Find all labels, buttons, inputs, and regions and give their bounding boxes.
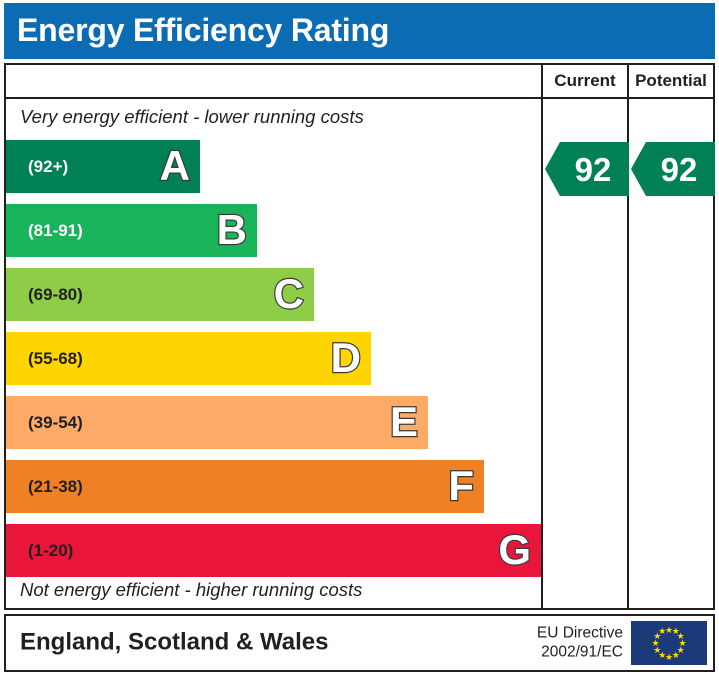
caption-efficient: Very energy efficient - lower running co…: [20, 106, 364, 128]
band-e: (39-54) E: [6, 396, 428, 449]
band-a: (92+) A: [6, 140, 200, 193]
potential-rating-value: 92: [649, 153, 698, 186]
band-e-letter: E: [390, 401, 418, 443]
footer-region-label: England, Scotland & Wales: [20, 628, 328, 656]
band-c: (69-80) C: [6, 268, 314, 321]
band-g: (1-20) G: [6, 524, 541, 577]
potential-rating-arrow: 92: [631, 142, 715, 196]
page-title: Energy Efficiency Rating: [17, 12, 389, 49]
band-a-range: (92+): [28, 157, 68, 177]
footer-directive-line2: 2002/91/EC: [537, 643, 623, 662]
band-f: (21-38) F: [6, 460, 484, 513]
energy-efficiency-rating-chart: Energy Efficiency Rating Current Potenti…: [0, 0, 719, 675]
column-header-row: Current Potential: [6, 65, 713, 99]
column-header-potential: Potential: [627, 65, 713, 97]
band-b-letter: B: [217, 209, 247, 251]
band-f-range: (21-38): [28, 477, 83, 497]
band-g-range: (1-20): [28, 541, 73, 561]
band-g-letter: G: [498, 529, 531, 571]
band-c-letter: C: [274, 273, 304, 315]
band-d-range: (55-68): [28, 349, 83, 369]
eu-flag-icon: [631, 621, 707, 665]
footer-directive-line1: EU Directive: [537, 624, 623, 643]
band-c-range: (69-80): [28, 285, 83, 305]
caption-inefficient: Not energy efficient - higher running co…: [20, 579, 362, 601]
footer-directive: EU Directive 2002/91/EC: [537, 624, 623, 663]
chart-header-banner: Energy Efficiency Rating: [4, 3, 715, 59]
band-f-letter: F: [448, 465, 474, 507]
band-b: (81-91) B: [6, 204, 257, 257]
band-b-range: (81-91): [28, 221, 83, 241]
column-divider-current: [541, 99, 543, 608]
column-header-current: Current: [541, 65, 627, 97]
band-d: (55-68) D: [6, 332, 371, 385]
current-rating-arrow: 92: [545, 142, 629, 196]
band-d-letter: D: [331, 337, 361, 379]
chart-footer: England, Scotland & Wales EU Directive 2…: [4, 614, 715, 672]
bands-area: Very energy efficient - lower running co…: [6, 99, 541, 608]
current-rating-value: 92: [563, 153, 612, 186]
band-a-letter: A: [160, 145, 190, 187]
band-e-range: (39-54): [28, 413, 83, 433]
